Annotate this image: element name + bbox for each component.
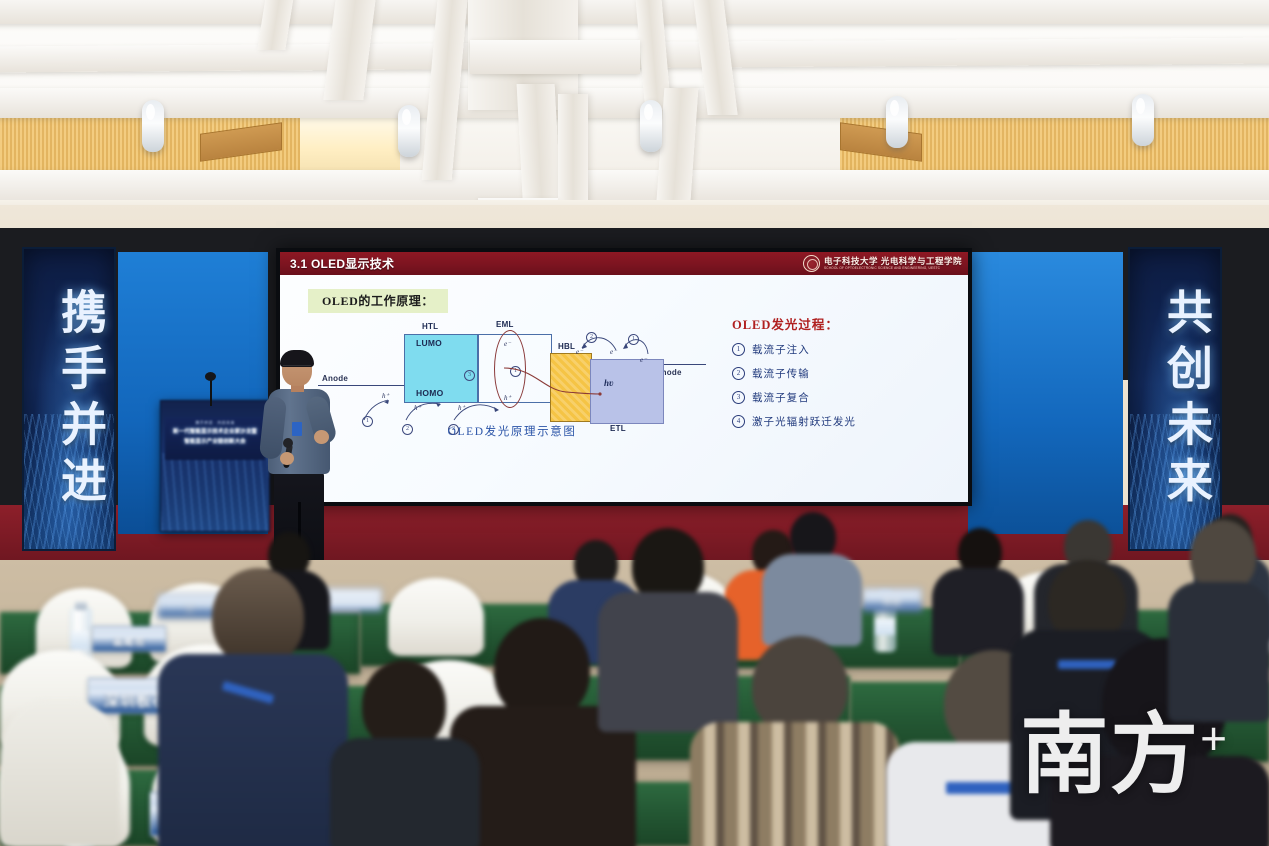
process-item-4: 4 激子光辐射跃迁发光 [732, 414, 947, 429]
attendee-body [762, 554, 862, 646]
banner-left: 携手并进 [22, 247, 116, 551]
name-card-huaweishi: 画威视 [92, 626, 166, 652]
downlight-1 [142, 100, 164, 152]
slide-section-tag-text: OLED的工作原理： [322, 294, 434, 308]
podium-title-line-2: 智能显示产业链创新大会 [165, 438, 265, 446]
banner-right-text: 共创未来 [1130, 265, 1220, 535]
ceiling-beam-lower [0, 170, 1269, 204]
attendee-head [752, 636, 848, 736]
name-card-text: 画威视 [113, 634, 145, 651]
university-seal-icon [803, 255, 820, 272]
process-item-3-text: 载流子复合 [752, 390, 810, 405]
slide-header-bar: 3.1 OLED显示技术 电子科技大学 光电科学与工程学院 SCHOOL OF … [280, 252, 968, 275]
oled-process-panel: OLED发光过程： 1 载流子注入 2 载流子传输 3 载流子复合 4 激子光辐… [732, 314, 947, 438]
electron-transport-arrows [568, 330, 668, 360]
university-name-en: SCHOOL OF OPTOELECTRONIC SCIENCE AND ENG… [824, 267, 962, 270]
attendee-left-foreground [330, 660, 480, 846]
presenter-badge [292, 422, 302, 436]
attendee-far-left-foreground [0, 700, 120, 846]
attendee-head [494, 618, 590, 720]
process-item-2-number: 2 [732, 367, 745, 380]
attendee-right-edge [1168, 520, 1269, 720]
podium-mic-head [205, 372, 216, 381]
ceiling-rib-4 [517, 84, 562, 214]
diagram-caption: OLED发光原理示意图 [318, 423, 706, 439]
led-wall-right [968, 252, 1123, 534]
podium: 携手并进 · 共创未来 新一代智能显示技术企业家沙龙暨 智能显示产业链创新大会 [160, 400, 270, 532]
eml-label: EML [496, 320, 514, 329]
bottle-label [875, 618, 895, 635]
name-card-text: 黄雅 [883, 597, 901, 611]
attendee-r1-grey [762, 512, 862, 637]
attendee-navy-polo [158, 568, 348, 846]
downlight-5 [1132, 94, 1154, 146]
bottle-label [71, 631, 91, 650]
downlight-2 [398, 105, 420, 157]
university-logo: 电子科技大学 光电科学与工程学院 SCHOOL OF OPTOELECTRONI… [803, 255, 962, 272]
attendee-body [158, 654, 348, 846]
projection-screen: 3.1 OLED显示技术 电子科技大学 光电科学与工程学院 SCHOOL OF … [276, 248, 972, 506]
attendee-head [212, 568, 304, 666]
ceiling-beam-mid [0, 88, 1269, 118]
name-card-header [93, 627, 165, 634]
presenter-left-hand [280, 452, 294, 465]
ceiling [0, 0, 1269, 240]
attendee-body [1168, 582, 1269, 722]
podium-mic-stand [210, 378, 212, 406]
process-item-4-number: 4 [732, 415, 745, 428]
downlight-3 [640, 100, 662, 152]
process-item-1-text: 载流子注入 [752, 342, 810, 357]
process-item-4-text: 激子光辐射跃迁发光 [752, 414, 856, 429]
attendee-body [0, 700, 120, 846]
htl-label: HTL [422, 322, 438, 331]
presenter-microphone-head [283, 438, 293, 448]
banner-left-text: 携手并进 [24, 265, 114, 535]
step-marker-d: 3 [464, 370, 475, 381]
name-card-huangya: 黄雅 [862, 588, 922, 612]
podium-cityscape [161, 453, 269, 531]
process-item-3: 3 载流子复合 [732, 390, 947, 405]
podium-subtitle: 携手并进 · 共创未来 [165, 420, 265, 426]
ceiling-center-plate [470, 40, 640, 74]
process-title: OLED发光过程： [732, 314, 947, 333]
attendee-head [362, 660, 446, 750]
eml-electron-label: e⁻ [504, 340, 511, 348]
process-item-2: 2 载流子传输 [732, 366, 947, 381]
attendee-plaid-shirt [690, 636, 900, 846]
presenter-right-hand [314, 430, 329, 444]
ceiling-beam-upper [0, 0, 1269, 24]
process-item-1-number: 1 [732, 343, 745, 356]
process-item-3-number: 3 [732, 391, 745, 404]
podium-sign: 携手并进 · 共创未来 新一代智能显示技术企业家沙龙暨 智能显示产业链创新大会 [165, 417, 265, 460]
banner-right: 共创未来 [1128, 247, 1222, 551]
process-item-2-text: 载流子传输 [752, 366, 810, 381]
process-item-1: 1 载流子注入 [732, 342, 947, 357]
podium-title-line-1: 新一代智能显示技术企业家沙龙暨 [165, 428, 265, 436]
bottle-cap [75, 602, 87, 610]
university-name-cn: 电子科技大学 光电科学与工程学院 [824, 257, 962, 266]
downlight-4 [886, 96, 908, 148]
presentation-slide: 3.1 OLED显示技术 电子科技大学 光电科学与工程学院 SCHOOL OF … [280, 252, 968, 502]
lumo-label: LUMO [416, 338, 442, 348]
oled-band-diagram: Anode Cathode HTL EML HBL ETL LUMO HOMO … [318, 312, 706, 437]
attendee-body [330, 738, 480, 846]
slide-title: 3.1 OLED显示技术 [290, 255, 394, 272]
ceiling-rib-1 [257, 0, 295, 50]
conference-photo-scene: 携手并进 共创未来 3.1 OLED显示技术 电子科技大学 光电科学与工程学院 … [0, 0, 1269, 846]
presenter-glasses-icon [283, 365, 311, 371]
name-card-header [863, 589, 921, 597]
slide-section-tag: OLED的工作原理： [308, 289, 448, 313]
attendee-body [690, 722, 900, 846]
attendee-body [1050, 756, 1269, 846]
